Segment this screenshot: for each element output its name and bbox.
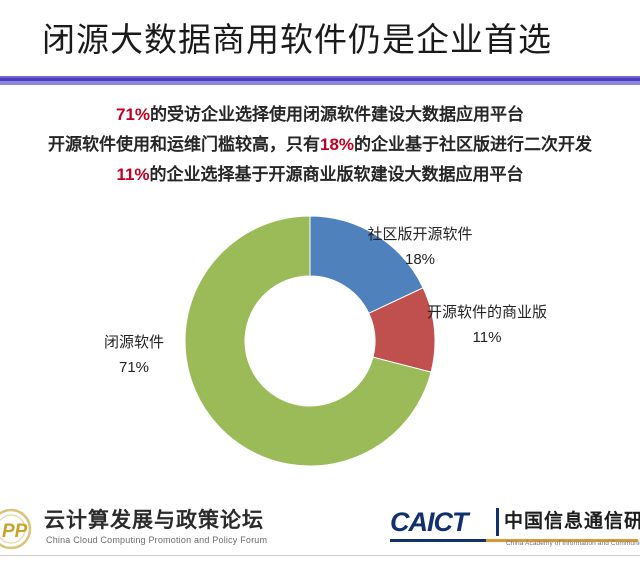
slice-label-community-value: 18% [340, 247, 500, 272]
caict-wordmark: CAICT [390, 506, 468, 538]
caict-underline-blue [390, 539, 486, 542]
slice-label-closed-value: 71% [72, 355, 196, 380]
subtitle-line-2-text: 的企业基于社区版进行二次开发 [354, 135, 592, 154]
subtitle-line-2-lead: 开源软件使用和运维门槛较高，只有 [48, 135, 320, 154]
forum-name-en: China Cloud Computing Promotion and Poli… [46, 534, 267, 546]
subtitle-line-1-stat: 71% [116, 105, 150, 124]
slice-label-commercial-value: 11% [418, 325, 556, 350]
forum-name-cn: 云计算发展与政策论坛 [44, 508, 264, 534]
slice-label-closed-source: 闭源软件 71% [72, 330, 196, 380]
caict-vertical-divider [496, 508, 499, 536]
caict-name-cn: 中国信息通信研究院 [504, 509, 640, 535]
subtitle-line-2: 开源软件使用和运维门槛较高，只有18%的企业基于社区版进行二次开发 [0, 130, 640, 160]
slide-footer: PP 云计算发展与政策论坛 China Cloud Computing Prom… [0, 496, 640, 562]
svg-text:PP: PP [2, 521, 28, 542]
subtitle-line-3-stat: 11% [116, 165, 149, 184]
slice-label-commercial-name: 开源软件的商业版 [427, 304, 547, 321]
slice-label-commercial-open-source: 开源软件的商业版 11% [418, 300, 556, 350]
caict-name-en: China Academy of Information and Communi… [506, 539, 640, 549]
page-title: 闭源大数据商用软件仍是企业首选 [42, 14, 552, 66]
cpp-circle-icon: PP [0, 508, 40, 550]
subtitle-line-1: 71%的受访企业选择使用闭源软件建设大数据应用平台 [0, 100, 640, 130]
subtitle-line-1-text: 的受访企业选择使用闭源软件建设大数据应用平台 [150, 105, 524, 124]
title-divider [0, 76, 640, 85]
subtitle-line-3: 11%的企业选择基于开源商业版软建设大数据应用平台 [0, 160, 640, 190]
slide-root: 闭源大数据商用软件仍是企业首选 71%的受访企业选择使用闭源软件建设大数据应用平… [0, 0, 640, 562]
slice-label-community-open-source: 社区版开源软件 18% [340, 222, 500, 272]
slice-label-closed-name: 闭源软件 [104, 334, 164, 351]
subtitle-block: 71%的受访企业选择使用闭源软件建设大数据应用平台 开源软件使用和运维门槛较高，… [0, 100, 640, 190]
footer-divider [0, 555, 640, 556]
caict-logo: CAICT 中国信息通信研究院 China Academy of Informa… [390, 506, 640, 552]
subtitle-line-3-text: 的企业选择基于开源商业版软建设大数据应用平台 [150, 165, 524, 184]
title-divider-line-bottom [0, 81, 640, 85]
subtitle-line-2-stat: 18% [320, 135, 354, 154]
forum-logo: PP 云计算发展与政策论坛 China Cloud Computing Prom… [2, 506, 302, 552]
slice-label-community-name: 社区版开源软件 [367, 226, 472, 243]
donut-chart: 社区版开源软件 18% 开源软件的商业版 11% 闭源软件 71% [0, 196, 640, 486]
slide-header: 闭源大数据商用软件仍是企业首选 [0, 14, 640, 76]
